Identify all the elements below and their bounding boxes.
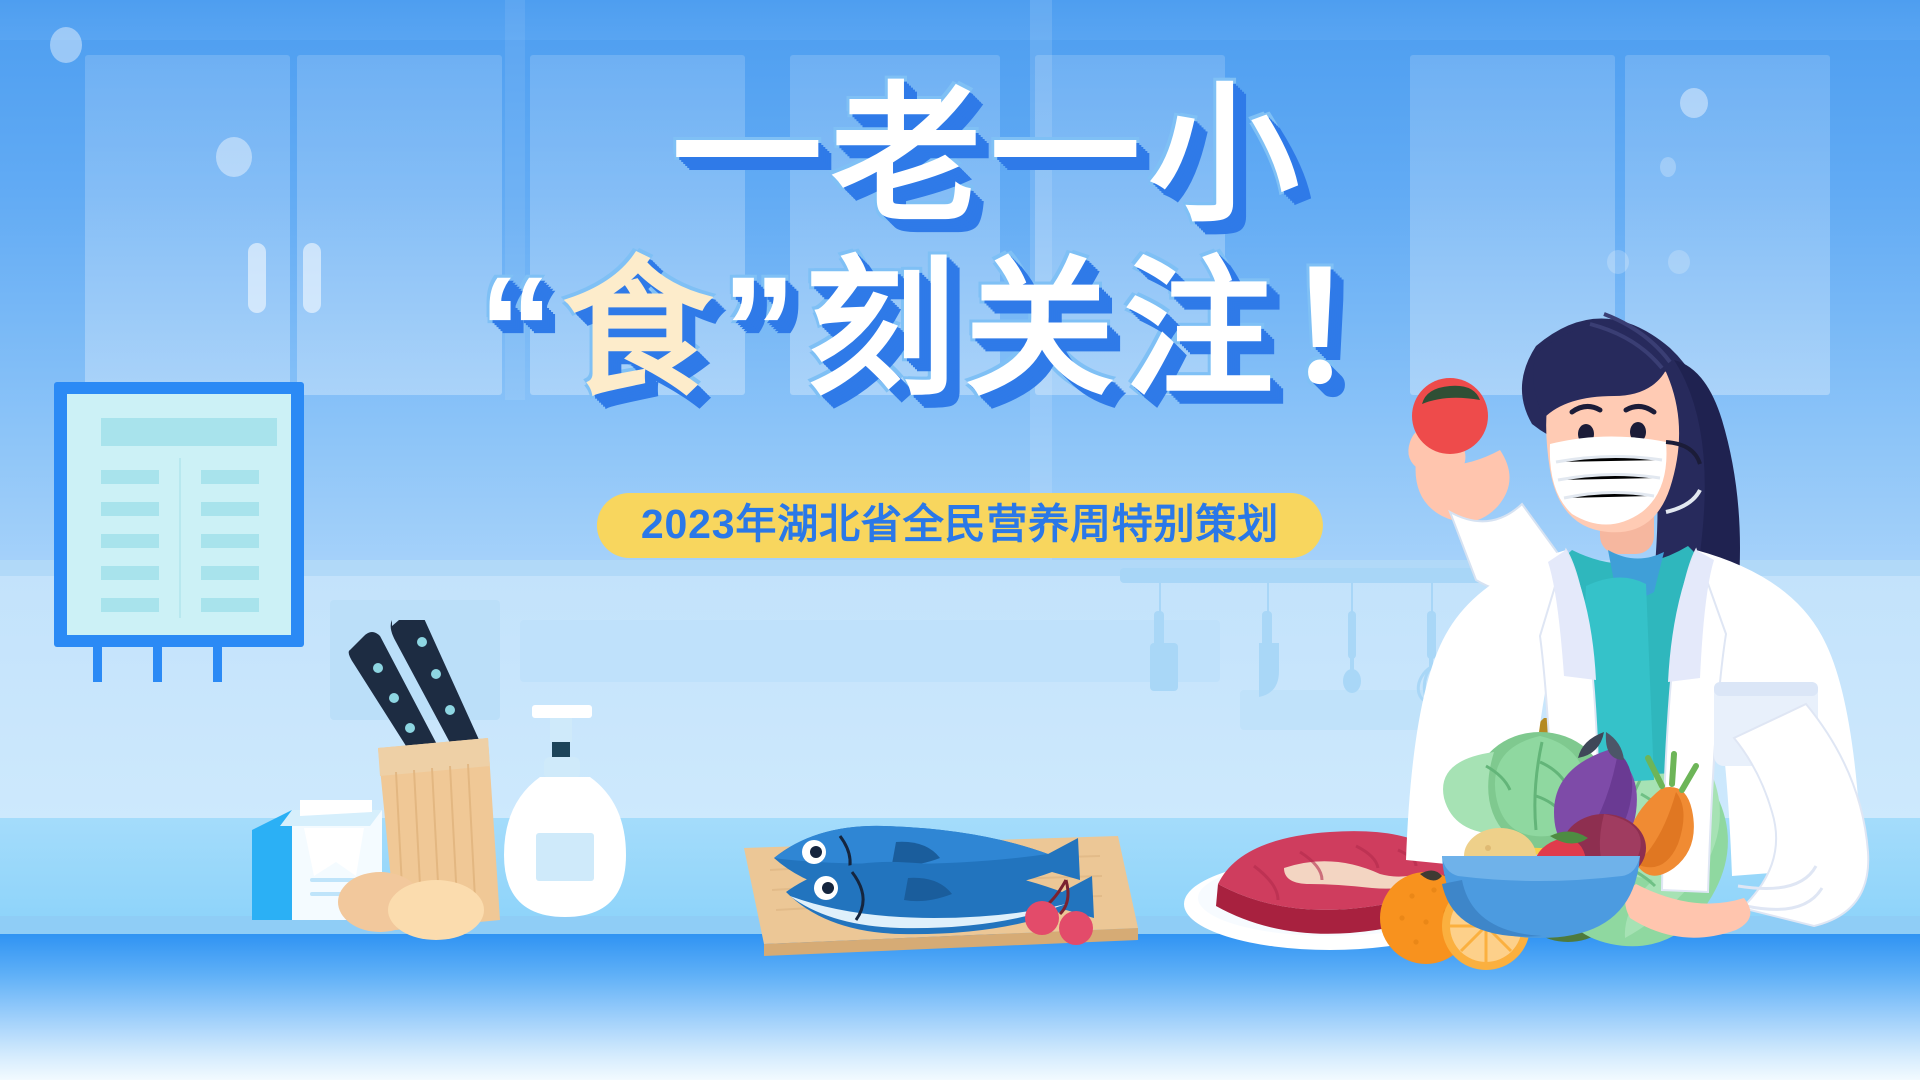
bokeh-1: [50, 27, 82, 63]
wall-top-band: [0, 0, 1920, 40]
backsplash-panel: [520, 620, 1220, 682]
nutritionist-character: [1390, 300, 1920, 940]
soap-dispenser: [500, 705, 630, 935]
cutting-board-with-fish: [730, 800, 1150, 960]
quote-open: “: [478, 245, 562, 413]
poster-banner: 一老一小 “食”刻关注！ 2023年湖北省全民营养周特别策划: [0, 0, 1920, 1080]
subtitle-text: 2023年湖北省全民营养周特别策划: [641, 504, 1279, 545]
title-line-1: 一老一小: [0, 80, 1920, 230]
title-line-2-rest: 刻关注！: [806, 245, 1442, 413]
hanging-knife: [1248, 583, 1288, 698]
hanging-spoon: [1335, 583, 1369, 698]
quote-close: ”: [722, 245, 806, 413]
title-highlight-char: 食: [562, 245, 721, 413]
subtitle-banner: 2023年湖北省全民营养周特别策划: [597, 493, 1323, 558]
eggs: [338, 862, 488, 940]
hanging-cleaver: [1140, 583, 1180, 693]
easel-menu-board: [45, 382, 325, 682]
